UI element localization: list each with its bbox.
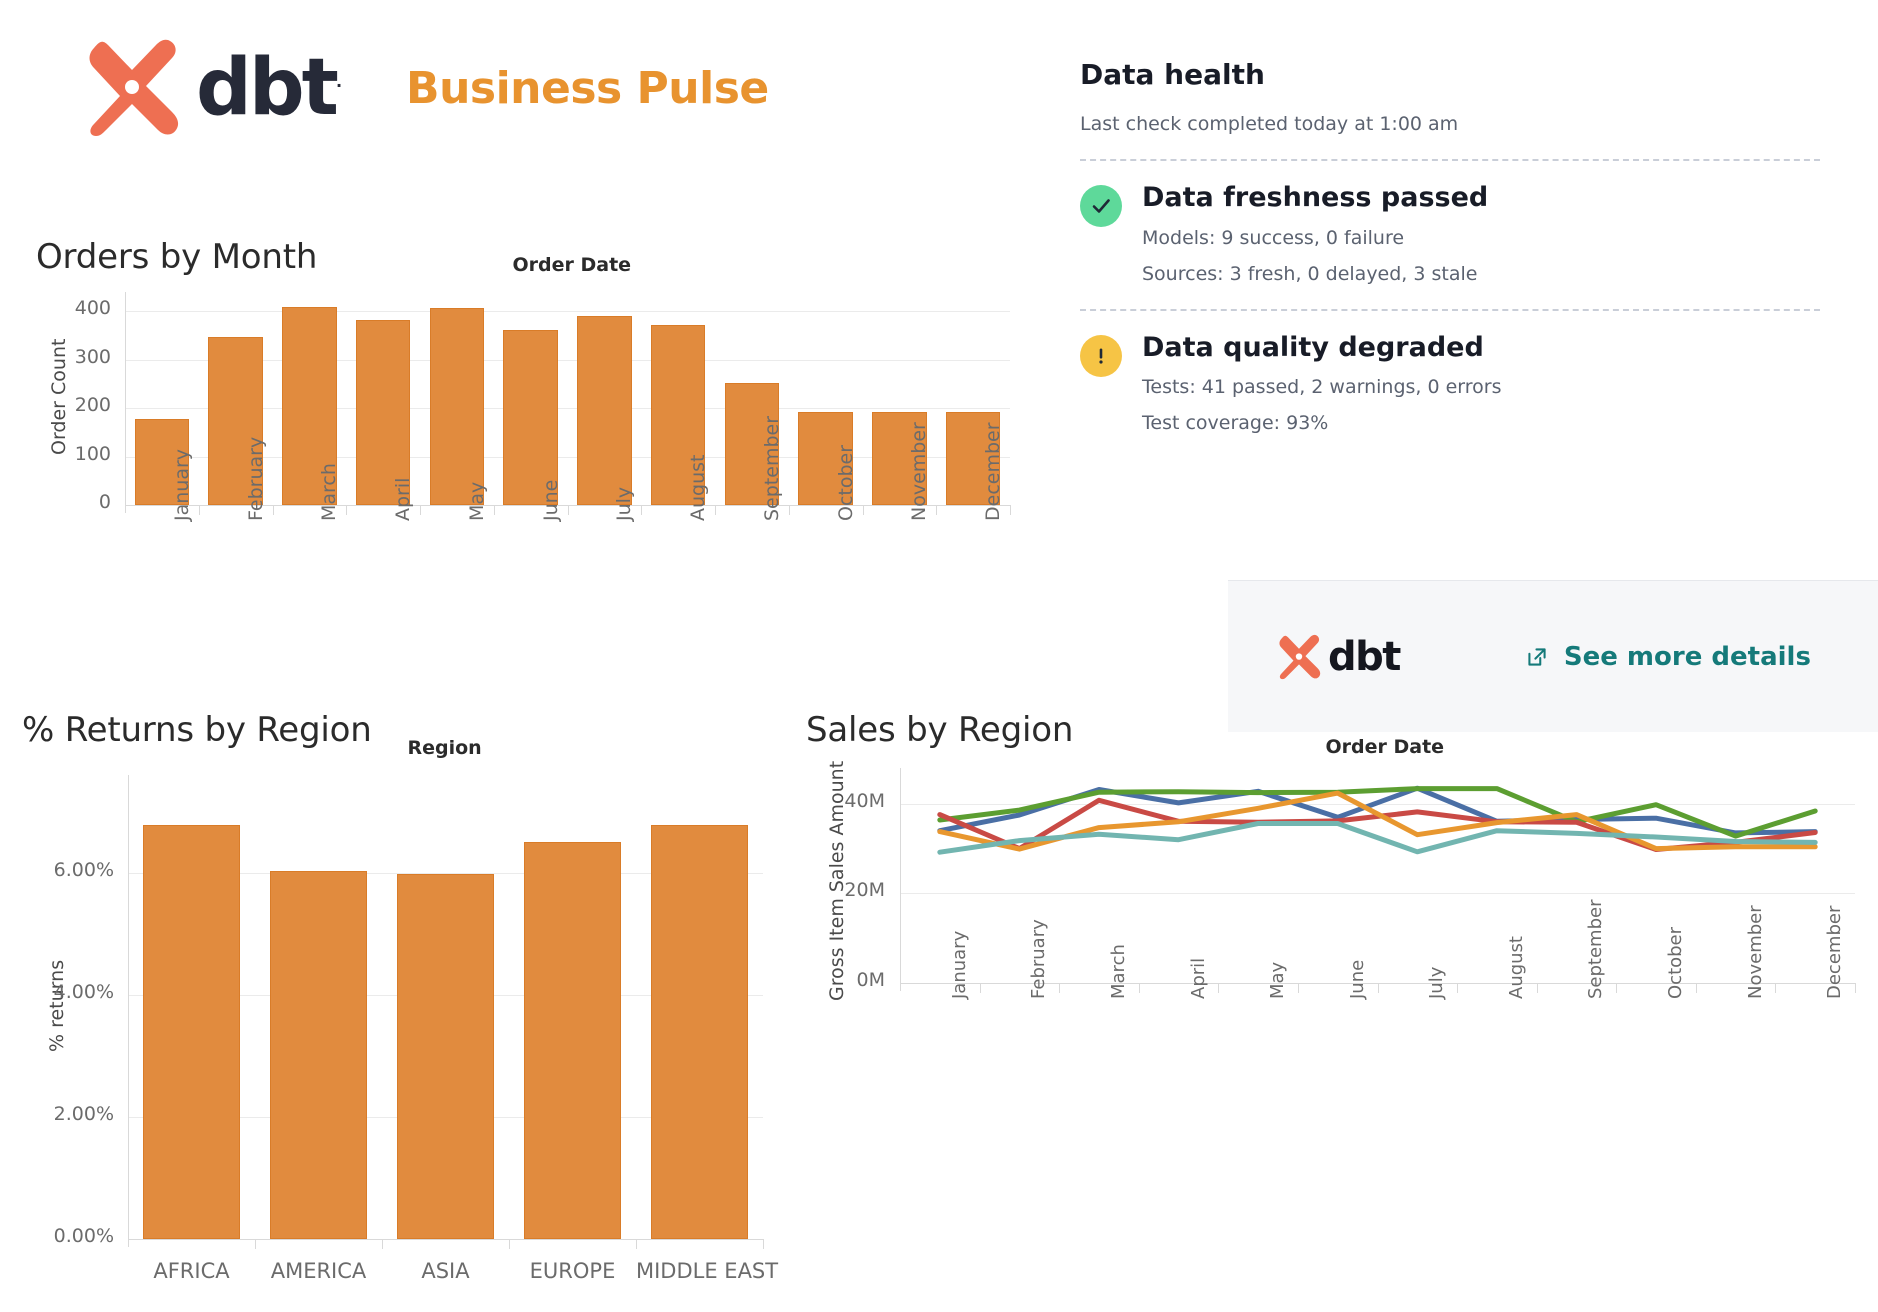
x-tick-label: AFRICA (128, 1259, 255, 1283)
x-tick-label: April (392, 478, 414, 521)
returns-chart-subtitle: Region (408, 737, 482, 759)
x-tick-label: May (1267, 962, 1288, 999)
x-tick (936, 505, 937, 515)
y-tick-label: 0M (795, 969, 885, 991)
x-tick (382, 1239, 383, 1249)
x-tick (1298, 983, 1299, 993)
health-heading: Data quality degraded (1142, 333, 1502, 363)
x-tick (863, 505, 864, 515)
series-orange (940, 793, 1815, 849)
x-tick-label: EUROPE (509, 1259, 636, 1283)
y-tick-label: 20M (795, 879, 885, 901)
x-tick-label: June (1347, 960, 1368, 999)
x-tick-label: July (1426, 967, 1447, 999)
returns-y-axis-label: % returns (46, 960, 68, 1052)
sales-chart-title: Sales by Region (806, 710, 1073, 750)
external-link-icon (1524, 644, 1550, 670)
x-tick-label: AMERICA (255, 1259, 382, 1283)
y-tick-label: 6.00% (0, 859, 114, 881)
y-tick-label: 300 (0, 346, 111, 368)
health-detail: Test coverage: 93% (1142, 412, 1502, 434)
x-tick (789, 505, 790, 515)
divider (1080, 159, 1820, 161)
bar (524, 842, 621, 1239)
data-health-subtitle: Last check completed today at 1:00 am (1080, 113, 1820, 135)
data-health-panel: Data health Last check completed today a… (1080, 58, 1820, 434)
y-tick-label: 4.00% (0, 981, 114, 1003)
bar (397, 874, 494, 1239)
health-detail: Models: 9 success, 0 failure (1142, 227, 1488, 249)
series-green (940, 789, 1815, 837)
x-tick (420, 505, 421, 515)
y-tick-label: 200 (0, 394, 111, 416)
returns-chart-title: % Returns by Region (22, 710, 372, 750)
x-tick-label: November (1745, 905, 1766, 999)
dbt-logo-small: dbt (1276, 634, 1400, 680)
x-tick-label: July (613, 487, 635, 521)
bar (430, 308, 485, 505)
x-tick (980, 983, 981, 993)
x-tick-label: March (1108, 944, 1129, 999)
x-tick (1616, 983, 1617, 993)
check-circle-icon (1080, 185, 1122, 227)
series-red (940, 800, 1815, 849)
x-tick-label: October (835, 445, 857, 521)
dashboard-root: dbt. Business Pulse Data health Last che… (0, 0, 1878, 1312)
y-tick-label: 100 (0, 443, 111, 465)
x-tick (494, 505, 495, 515)
y-tick-label: 400 (0, 297, 111, 319)
x-tick-label: August (1506, 936, 1527, 999)
x-tick (509, 1239, 510, 1249)
x-tick (1855, 983, 1856, 993)
x-tick-label: September (1585, 900, 1606, 1000)
see-more-details-label: See more details (1564, 642, 1811, 672)
x-tick-label: January (171, 449, 193, 521)
health-item-freshness: Data freshness passed Models: 9 success,… (1080, 183, 1820, 285)
series-blue (940, 788, 1815, 833)
x-tick-label: August (687, 455, 709, 522)
dbt-wordmark: dbt (1328, 637, 1400, 677)
x-axis-line (128, 1239, 763, 1240)
y-tick-label: 0 (0, 491, 111, 513)
bar (270, 871, 367, 1239)
x-tick-label: December (1824, 906, 1845, 999)
x-tick-label: June (540, 480, 562, 521)
x-tick (255, 1239, 256, 1249)
x-tick (1059, 983, 1060, 993)
page-title: Business Pulse (406, 63, 769, 114)
y-axis-line (125, 292, 126, 513)
orders-chart-title: Orders by Month (36, 237, 317, 277)
x-tick (346, 505, 347, 515)
sales-chart-subtitle: Order Date (1326, 736, 1445, 758)
y-axis-line (128, 775, 129, 1247)
bar (143, 825, 240, 1239)
x-tick (715, 505, 716, 515)
series-teal (940, 824, 1815, 853)
x-tick (641, 505, 642, 515)
y-tick-label: 2.00% (0, 1103, 114, 1125)
x-tick-label: ASIA (382, 1259, 509, 1283)
health-detail: Sources: 3 fresh, 0 delayed, 3 stale (1142, 263, 1488, 285)
gridline (900, 893, 1855, 894)
x-tick-label: April (1188, 958, 1209, 999)
divider (1080, 309, 1820, 311)
bar (577, 316, 632, 505)
bar (651, 825, 748, 1239)
x-tick-label: MIDDLE EAST (636, 1259, 763, 1283)
x-tick (1775, 983, 1776, 993)
y-axis-line (900, 768, 901, 991)
x-tick-label: December (982, 422, 1004, 521)
x-tick (1696, 983, 1697, 993)
x-tick-label: September (761, 416, 783, 521)
x-tick (273, 505, 274, 515)
x-tick (1218, 983, 1219, 993)
gridline (900, 804, 1855, 805)
dbt-wordmark: dbt. (196, 49, 342, 127)
dbt-logo: dbt. (82, 38, 342, 138)
dbt-x-icon (1276, 634, 1322, 680)
x-tick (568, 505, 569, 515)
x-tick-label: February (245, 437, 267, 521)
x-tick-label: March (318, 463, 340, 521)
x-tick-label: October (1665, 927, 1686, 999)
data-health-title: Data health (1080, 58, 1820, 91)
x-tick (1537, 983, 1538, 993)
health-heading: Data freshness passed (1142, 183, 1488, 213)
x-tick (1457, 983, 1458, 993)
dbt-x-icon (82, 38, 182, 138)
x-tick-label: November (908, 422, 930, 521)
x-tick (1010, 505, 1011, 515)
x-tick (1139, 983, 1140, 993)
y-tick-label: 0.00% (0, 1225, 114, 1247)
gridline (125, 311, 1010, 312)
health-detail: Tests: 41 passed, 2 warnings, 0 errors (1142, 376, 1502, 398)
x-tick (1378, 983, 1379, 993)
x-tick (636, 1239, 637, 1249)
see-more-details-link[interactable]: See more details (1524, 642, 1811, 672)
health-item-quality: Data quality degraded Tests: 41 passed, … (1080, 333, 1820, 435)
warning-circle-icon (1080, 335, 1122, 377)
x-tick (763, 1239, 764, 1249)
orders-chart-subtitle: Order Date (513, 254, 632, 276)
x-tick-label: January (949, 931, 970, 999)
dashboard-header: dbt. Business Pulse (82, 38, 769, 138)
y-tick-label: 40M (795, 790, 885, 812)
x-tick-label: May (466, 482, 488, 521)
x-tick (199, 505, 200, 515)
dbt-callout-card: dbt See more details (1228, 580, 1878, 732)
x-tick-label: February (1028, 919, 1049, 999)
